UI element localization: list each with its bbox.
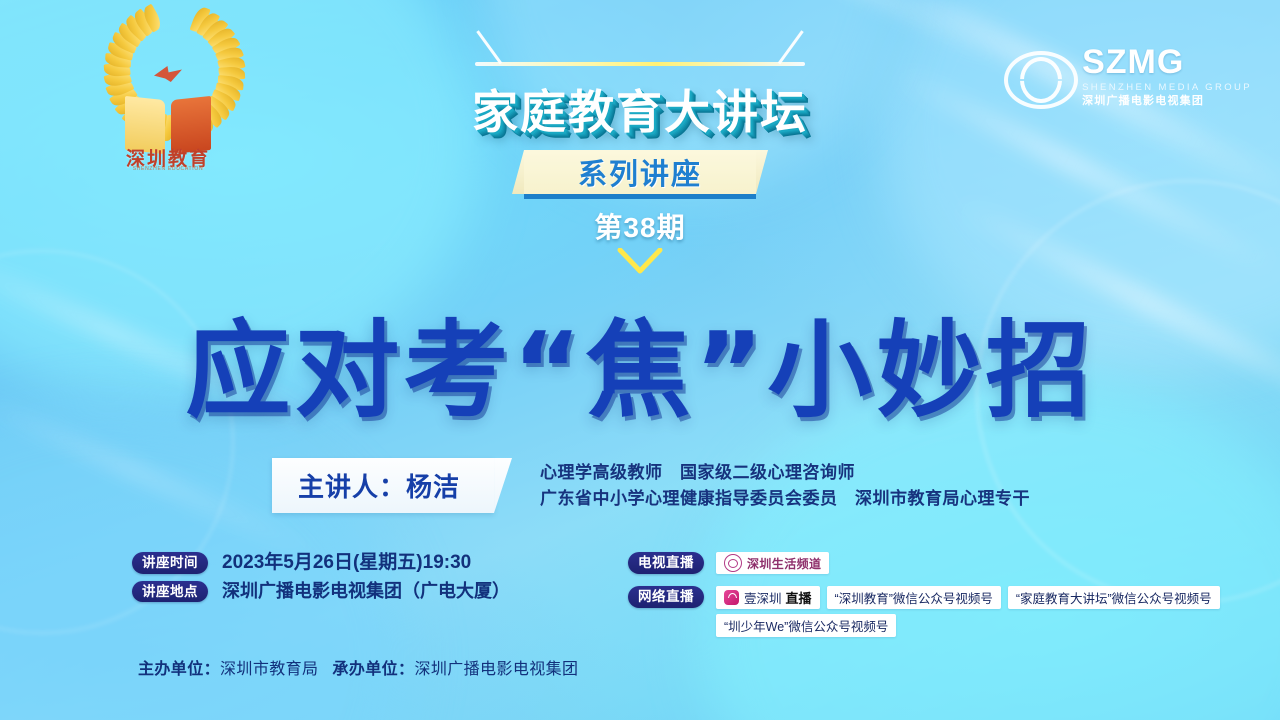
info-row-time: 讲座时间 2023年5月26日(星期五)19:30 [132,552,562,574]
host-value: 深圳市教育局 [220,661,318,678]
coorganizer-value: 深圳广播电影电视集团 [414,661,578,678]
series-subtitle: 系列讲座 [578,151,702,193]
szmg-ring-icon [724,554,742,572]
speaker-credential-line: 心理学高级教师 国家级二级心理咨询师 [540,460,1030,486]
coorganizer-label: 承办单位： [332,661,414,678]
speaker-credential-line: 广东省中小学心理健康指导委员会委员 深圳市教育局心理专干 [540,486,1030,512]
decorative-bracket [475,58,805,74]
info-row-web: 网络直播 壹深圳 直播 “深圳教育”微信公众号视频号 “家庭教育大讲坛”微信公众… [628,586,1276,642]
poster-canvas: 深圳教育 SHENZHEN EDUCATION SZMG SHENZHEN ME… [0,0,1280,720]
series-title: 家庭教育大讲坛 [0,76,1280,142]
speaker-block: 主讲人：杨洁 心理学高级教师 国家级二级心理咨询师 广东省中小学心理健康指导委员… [272,458,1030,513]
time-label: 讲座时间 [132,552,208,574]
info-row-place: 讲座地点 深圳广播电影电视集团（广电大厦） [132,581,562,603]
host-label: 主办单位： [138,661,220,678]
info-block: 讲座时间 2023年5月26日(星期五)19:30 讲座地点 深圳广播电影电视集… [132,552,1276,649]
web-channel-name: 壹深圳 [744,588,782,607]
chevron-down-icon [617,248,663,274]
tv-channel-chip[interactable]: 深圳生活频道 [716,552,829,574]
web-live-label: 网络直播 [628,586,704,608]
organizers-line: 主办单位：深圳市教育局承办单位：深圳广播电影电视集团 [138,655,578,679]
issue-number: 第38期 [0,206,1280,246]
header-block: 家庭教育大讲坛 系列讲座 第38期 [0,58,1280,274]
web-channel-chip[interactable]: 壹深圳 直播 [716,586,820,609]
place-value: 深圳广播电影电视集团（广电大厦） [222,581,510,602]
yizhenzhen-app-icon [724,590,739,605]
series-subtitle-banner: 系列讲座 [524,150,756,194]
time-value: 2023年5月26日(星期五)19:30 [222,552,471,574]
speaker-name-tag: 主讲人：杨洁 [272,458,494,513]
web-channel-name: “家庭教育大讲坛”微信公众号视频号 [1016,588,1212,607]
web-channel-chip[interactable]: “深圳教育”微信公众号视频号 [827,586,1001,609]
web-channel-name: “深圳教育”微信公众号视频号 [835,588,993,607]
web-channel-suffix: 直播 [786,588,812,607]
tv-live-label: 电视直播 [628,552,704,574]
web-channel-name: “圳少年We”微信公众号视频号 [724,616,888,635]
web-channel-chip[interactable]: “圳少年We”微信公众号视频号 [716,614,896,637]
place-label: 讲座地点 [132,581,208,603]
info-row-tv: 电视直播 深圳生活频道 [628,552,1276,579]
web-channel-chip[interactable]: “家庭教育大讲坛”微信公众号视频号 [1008,586,1220,609]
page-title: 应对考“焦”小妙招 [0,286,1280,438]
tv-channel-name: 深圳生活频道 [747,555,821,572]
speaker-credentials: 心理学高级教师 国家级二级心理咨询师 广东省中小学心理健康指导委员会委员 深圳市… [540,458,1030,513]
